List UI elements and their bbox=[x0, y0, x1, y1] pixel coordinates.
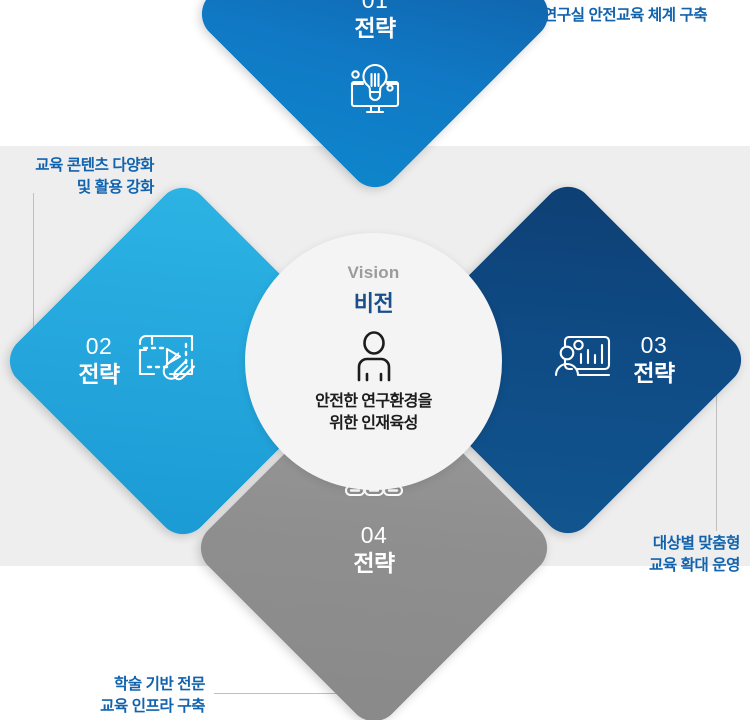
callout-strategy-01-line1: 연구실 안전교육 체계 구축 bbox=[543, 5, 707, 27]
infographic-root: 연구실 안전교육 체계 구축 교육 콘텐츠 다양화 및 활용 강화 대상별 맞춤… bbox=[0, 0, 750, 720]
vision-circle[interactable]: Vision 비전 안전한 연구환경을 위한 인재육성 bbox=[245, 233, 502, 490]
person-icon bbox=[349, 330, 399, 387]
vision-label-ko: 비전 bbox=[354, 286, 393, 318]
callout-strategy-04: 학술 기반 전문 교육 인프라 구축 bbox=[45, 674, 205, 719]
callout-strategy-04-line2: 교육 인프라 구축 bbox=[45, 696, 205, 718]
callout-strategy-02-line2: 및 활용 강화 bbox=[0, 177, 154, 199]
callout-strategy-03-line1: 대상별 맞춤형 bbox=[595, 533, 740, 555]
vision-description-line1: 안전한 연구환경을 bbox=[315, 391, 432, 413]
callout-strategy-02: 교육 콘텐츠 다양화 및 활용 강화 bbox=[0, 155, 154, 200]
callout-strategy-01: 연구실 안전교육 체계 구축 bbox=[543, 5, 707, 27]
callout-strategy-03: 대상별 맞춤형 교육 확대 운영 bbox=[595, 533, 740, 578]
callout-strategy-04-line1: 학술 기반 전문 bbox=[45, 674, 205, 696]
vision-description: 안전한 연구환경을 위한 인재육성 bbox=[315, 391, 432, 434]
vision-label-en: Vision bbox=[348, 263, 400, 283]
callout-strategy-03-line2: 교육 확대 운영 bbox=[595, 555, 740, 577]
vision-description-line2: 위한 인재육성 bbox=[315, 413, 432, 435]
callout-strategy-02-line1: 교육 콘텐츠 다양화 bbox=[0, 155, 154, 177]
